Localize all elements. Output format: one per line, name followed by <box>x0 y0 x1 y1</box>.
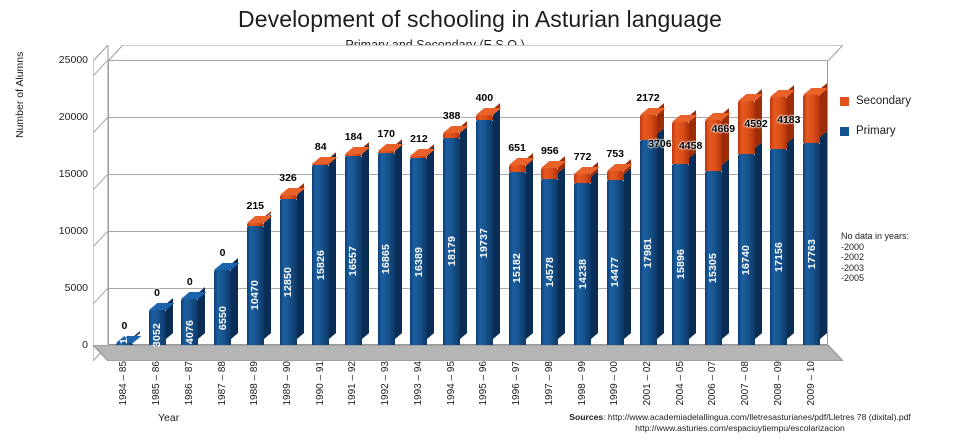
bar-segment-primary[interactable]: 17981 <box>640 140 657 345</box>
y-axis-tick-label: 20000 <box>28 111 88 123</box>
no-data-year: -2002 <box>841 252 909 263</box>
bar-slot[interactable]: 14238772 <box>574 60 591 345</box>
y-axis-tick-label: 0 <box>28 339 88 351</box>
x-axis-tick-label: 1998 – 99 <box>577 361 589 406</box>
bar-slot[interactable]: 10470215 <box>247 60 264 345</box>
y-axis-tick-label: 15000 <box>28 168 88 180</box>
bar-face <box>509 165 526 172</box>
bar-value-label-secondary: 0 <box>220 247 226 259</box>
bar-value-label-primary: 17156 <box>773 242 785 272</box>
bar-segment-primary[interactable]: 135 <box>116 343 133 345</box>
bar-segment-primary[interactable]: 15826 <box>312 165 329 345</box>
bar-slot[interactable]: 19737400 <box>476 60 493 345</box>
bar-segment-secondary[interactable] <box>443 133 460 137</box>
bar-value-label-primary: 18179 <box>446 236 458 266</box>
bar-side <box>820 131 827 339</box>
bar-segment-primary[interactable]: 18179 <box>443 138 460 345</box>
bar-slot[interactable]: 177634183 <box>803 60 820 345</box>
no-data-year: -2005 <box>841 273 909 284</box>
bar-side <box>231 258 238 339</box>
legend-item[interactable]: Secondary <box>840 95 958 107</box>
legend-swatch-icon <box>840 127 849 136</box>
bar-value-label-primary: 16389 <box>413 246 425 276</box>
bar-slot[interactable]: 18179388 <box>443 60 460 345</box>
bar-value-label-secondary: 326 <box>279 172 297 184</box>
bar-value-label-secondary: 772 <box>574 151 592 163</box>
bar-segment-primary[interactable]: 17763 <box>803 143 820 345</box>
bar-side <box>657 128 664 339</box>
x-axis-tick-label: 1997 – 98 <box>544 361 556 406</box>
x-axis-tick-label: 1999 – 00 <box>609 361 621 406</box>
x-axis-tick-label: 1996 – 97 <box>511 361 523 406</box>
bar-value-label-primary: 14238 <box>577 259 589 289</box>
bar-slot[interactable]: 1350 <box>116 60 133 345</box>
legend: SecondaryPrimary <box>840 95 958 155</box>
bar-segment-primary[interactable]: 16557 <box>345 156 362 345</box>
bar-side <box>297 187 304 339</box>
bar-slot[interactable]: 12850326 <box>280 60 297 345</box>
x-axis-labels: 1984 – 851985 – 861986 – 871987 – 881988… <box>108 361 838 411</box>
bar-value-label-primary: 14578 <box>544 257 556 287</box>
bar-side <box>558 167 565 339</box>
x-axis-tick-label: 1985 – 86 <box>151 361 163 406</box>
bar-side <box>395 141 402 339</box>
x-axis-tick-label: 1986 – 87 <box>184 361 196 406</box>
bar-segment-primary[interactable]: 15182 <box>509 172 526 345</box>
bar-slot[interactable]: 65500 <box>214 60 231 345</box>
bar-slot[interactable]: 14477753 <box>607 60 624 345</box>
bar-value-label-secondary: 4669 <box>712 123 735 135</box>
chart-subtitle: Primary and Secondary (E.S.O.) <box>0 38 870 52</box>
bar-value-label-secondary: 84 <box>315 141 327 153</box>
y-axis-ticks: 0500010000150002000025000 <box>28 60 88 345</box>
legend-label: Primary <box>856 125 896 137</box>
bar-slot[interactable]: 171564592 <box>770 60 787 345</box>
sources-label: Sources <box>569 412 603 422</box>
bar-segment-secondary[interactable] <box>803 95 820 143</box>
bar-value-label-secondary: 4592 <box>744 118 767 130</box>
bar-value-label-primary: 15182 <box>511 253 523 283</box>
bar-segment-primary[interactable]: 19737 <box>476 120 493 345</box>
bar-value-label-secondary: 400 <box>476 92 494 104</box>
bar-value-label-secondary: 651 <box>508 142 526 154</box>
bar-value-label-primary: 17981 <box>642 237 654 267</box>
bar-segment-primary[interactable]: 16740 <box>738 154 755 345</box>
bar-face <box>280 195 297 199</box>
bar-slot[interactable]: 179812172 <box>640 60 657 345</box>
bar-face <box>476 115 493 120</box>
x-axis-tick-label: 1984 – 85 <box>118 361 130 406</box>
bar-side <box>591 171 598 339</box>
bar-value-label-primary: 16865 <box>380 244 392 274</box>
bar-segment-secondary[interactable] <box>247 223 264 225</box>
bar-value-label-primary: 15826 <box>315 250 327 280</box>
bar-segment-primary[interactable]: 16389 <box>410 158 427 345</box>
bar-value-label-secondary: 0 <box>187 276 193 288</box>
bar-value-label-primary: 4076 <box>184 320 196 344</box>
bar-value-label-primary: 12850 <box>282 267 294 297</box>
bar-segment-secondary[interactable] <box>345 154 362 156</box>
no-data-year: -2000 <box>841 242 909 253</box>
bar-segment-secondary[interactable] <box>640 115 657 140</box>
x-axis-tick-label: 1993 – 94 <box>413 361 425 406</box>
bar-side <box>755 142 762 339</box>
bar-value-label-secondary: 0 <box>154 287 160 299</box>
x-axis-tick-label: 1987 – 88 <box>217 361 229 406</box>
x-axis-tick-label: 2008 – 09 <box>773 361 785 406</box>
bar-face <box>574 174 591 183</box>
x-axis-title: Year <box>158 412 179 424</box>
x-axis-tick-label: 1992 – 93 <box>380 361 392 406</box>
bar-segment-secondary[interactable] <box>607 171 624 180</box>
chart-container: Development of schooling in Asturian lan… <box>0 0 960 444</box>
x-axis-tick-label: 2009 – 10 <box>806 361 818 406</box>
bar-value-label-secondary: 3706 <box>648 138 671 150</box>
bar-value-label-secondary: 4458 <box>679 140 702 152</box>
bar-value-label-secondary: 956 <box>541 145 559 157</box>
bar-value-label-primary: 6550 <box>217 306 229 330</box>
bar-value-label-secondary: 2172 <box>636 92 659 104</box>
bar-face <box>541 168 558 179</box>
bar-side <box>460 126 467 339</box>
bar-side <box>362 144 369 339</box>
legend-label: Secondary <box>856 95 911 107</box>
bar-value-label-primary: 15896 <box>675 249 687 279</box>
bar-segment-secondary[interactable] <box>509 165 526 172</box>
bar-segment-primary[interactable]: 15305 <box>705 171 722 345</box>
sources-url-1: http://www.academiadelallingua.com/lletr… <box>608 412 911 422</box>
bar-side <box>526 160 533 339</box>
bar-value-label-primary: 17763 <box>806 239 818 269</box>
bar-group: 1350305204076065500104702151285032615826… <box>108 60 828 345</box>
bar-face <box>607 171 624 180</box>
bar-side <box>427 146 434 339</box>
x-axis-tick-label: 2001 – 02 <box>642 361 654 406</box>
bar-segment-secondary[interactable] <box>378 151 395 153</box>
bar-segment-primary[interactable]: 10470 <box>247 226 264 345</box>
bar-slot[interactable]: 167404669 <box>738 60 755 345</box>
bar-value-label-secondary: 184 <box>345 131 363 143</box>
sources-note: Sources: http://www.academiadelallingua.… <box>520 412 960 434</box>
bar-segment-primary[interactable]: 15896 <box>672 164 689 345</box>
bar-value-label-primary: 19737 <box>478 227 490 257</box>
bar-segment-primary[interactable]: 17156 <box>770 149 787 345</box>
bar-segment-secondary[interactable] <box>280 195 297 199</box>
no-data-heading: No data in years: <box>841 231 909 242</box>
bar-value-label-primary: 14477 <box>609 257 621 287</box>
bar-side <box>624 168 631 339</box>
bar-segment-primary[interactable]: 6550 <box>214 270 231 345</box>
x-axis-tick-label: 1990 – 91 <box>315 361 327 406</box>
bar-face <box>803 95 820 143</box>
bar-side <box>787 138 794 339</box>
bar-value-label-primary: 3052 <box>151 323 163 347</box>
bar-face <box>378 151 395 153</box>
x-axis-tick-label: 1988 – 89 <box>249 361 261 406</box>
bar-segment-primary[interactable]: 14238 <box>574 183 591 345</box>
bar-segment-primary[interactable]: 16865 <box>378 153 395 345</box>
bar-segment-secondary[interactable] <box>574 174 591 183</box>
bar-value-label-secondary: 0 <box>121 320 127 332</box>
x-axis-tick-label: 1995 – 96 <box>478 361 490 406</box>
bar-value-label-primary: 16740 <box>740 244 752 274</box>
bar-segment-secondary[interactable] <box>410 156 427 158</box>
y-axis-tick-label: 25000 <box>28 54 88 66</box>
x-axis-tick-label: 2007 – 08 <box>740 361 752 406</box>
bar-value-label-primary: 16557 <box>347 246 359 276</box>
bar-value-label-secondary: 753 <box>607 148 625 160</box>
bar-value-label-secondary: 170 <box>377 128 395 140</box>
bar-side <box>689 152 696 339</box>
bar-slot[interactable]: 1582684 <box>312 60 329 345</box>
bar-slot[interactable]: 158963706 <box>672 60 689 345</box>
bar-segment-primary[interactable]: 14477 <box>607 180 624 345</box>
bar-segment-secondary[interactable] <box>476 115 493 120</box>
bar-segment-secondary[interactable] <box>312 164 329 165</box>
bar-segment-primary[interactable]: 4076 <box>181 299 198 345</box>
bar-slot[interactable]: 153054458 <box>705 60 722 345</box>
bar-slot[interactable]: 30520 <box>149 60 166 345</box>
legend-item[interactable]: Primary <box>840 125 958 137</box>
bar-value-label-secondary: 212 <box>410 133 428 145</box>
x-axis-tick-label: 2006 – 07 <box>707 361 719 406</box>
bar-segment-primary[interactable]: 12850 <box>280 199 297 345</box>
no-data-year: -2003 <box>841 263 909 274</box>
bar-side <box>264 214 271 339</box>
bar-side <box>722 159 729 339</box>
y-axis-tick-label: 10000 <box>28 225 88 237</box>
bar-segment-primary[interactable]: 14578 <box>541 179 558 345</box>
bar-slot[interactable]: 14578956 <box>541 60 558 345</box>
y-axis-title: Number of Alumns <box>14 0 26 138</box>
bar-value-label-secondary: 215 <box>247 200 265 212</box>
x-axis-tick-label: 2004 – 05 <box>675 361 687 406</box>
bar-face <box>443 133 460 137</box>
bar-face <box>345 154 362 156</box>
bar-value-label-secondary: 4183 <box>777 114 800 126</box>
bar-slot[interactable]: 40760 <box>181 60 198 345</box>
bar-side <box>493 108 500 339</box>
no-data-note: No data in years: -2000 -2002 -2003 -200… <box>841 231 909 284</box>
x-axis-tick-label: 1994 – 95 <box>446 361 458 406</box>
bar-value-label-secondary: 388 <box>443 110 461 122</box>
plot-floor <box>93 345 843 361</box>
y-axis-3d-steps <box>93 45 109 361</box>
x-axis-tick-label: 1989 – 90 <box>282 361 294 406</box>
bar-value-label-primary: 10470 <box>249 280 261 310</box>
bar-slot[interactable]: 16865170 <box>378 60 395 345</box>
bar-value-label-primary: 15305 <box>707 253 719 283</box>
bar-segment-secondary[interactable] <box>541 168 558 179</box>
bar-face <box>247 223 264 225</box>
x-axis-tick-label: 1991 – 92 <box>347 361 359 406</box>
bar-slot[interactable]: 16557184 <box>345 60 362 345</box>
page-title: Development of schooling in Asturian lan… <box>0 6 960 33</box>
sources-url-2: http://www.asturies.com/espaciuytiempu/e… <box>520 423 960 434</box>
bar-face <box>410 156 427 158</box>
y-axis-tick-label: 5000 <box>28 282 88 294</box>
bar-segment-primary[interactable]: 3052 <box>149 310 166 345</box>
legend-swatch-icon <box>840 97 849 106</box>
bar-face <box>640 115 657 140</box>
bar-side <box>329 153 336 339</box>
bar-slot[interactable]: 15182651 <box>509 60 526 345</box>
bar-slot[interactable]: 16389212 <box>410 60 427 345</box>
